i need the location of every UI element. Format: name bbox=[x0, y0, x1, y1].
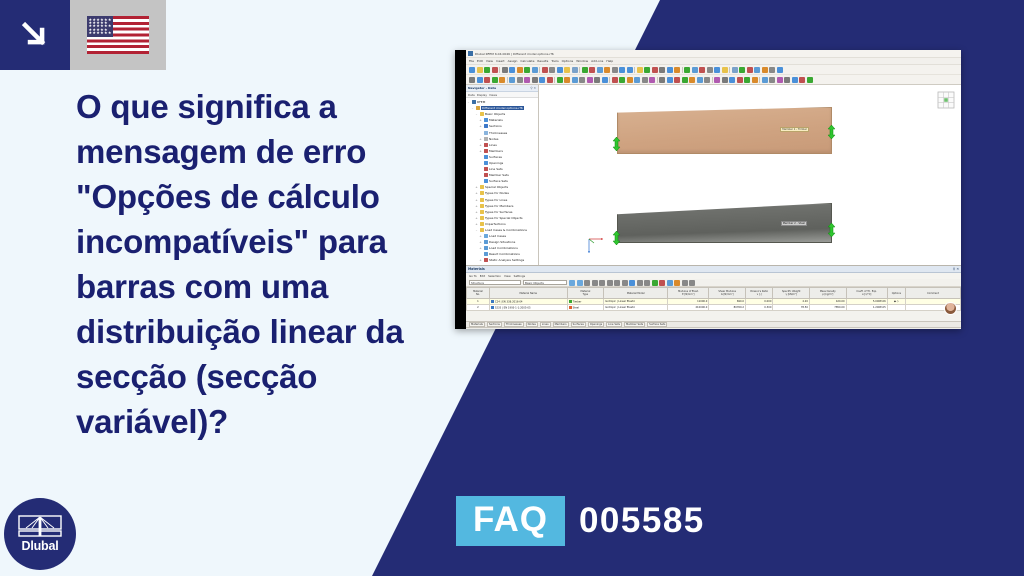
coordinate-axes-icon bbox=[587, 237, 607, 255]
tree-item-icon bbox=[484, 161, 488, 165]
materials-table-cell[interactable]: Isotropic | Linear Elastic bbox=[604, 305, 668, 311]
tree-item-label: RFEM bbox=[477, 100, 485, 104]
steel-tapered-beam[interactable]: Member 2 - Steel bbox=[617, 203, 832, 243]
toolbar-button[interactable] bbox=[659, 67, 665, 73]
tree-item-icon bbox=[484, 179, 488, 183]
toolbar-button[interactable] bbox=[502, 67, 508, 73]
tree-item-icon bbox=[484, 167, 488, 171]
toolbar-button[interactable] bbox=[594, 77, 600, 83]
tree-item-label: Line Sets bbox=[489, 167, 503, 171]
toolbar-button[interactable] bbox=[732, 67, 738, 73]
tree-item-icon bbox=[484, 143, 488, 147]
materials-column-header[interactable]: Poisson's Ratio ν [-] bbox=[745, 288, 772, 299]
toolbar-button[interactable] bbox=[714, 67, 720, 73]
toolbar-button[interactable] bbox=[684, 67, 690, 73]
tree-item-label: Special Objects bbox=[485, 185, 508, 189]
toolbar-button[interactable] bbox=[469, 77, 475, 83]
rfem-title-bar: Dlubal RFEM 6.04.0046 | Different model … bbox=[466, 50, 961, 58]
faq-slide: ★★★★★★ ★★★★★ ★★★★★★ ★★★★★ ★★★★★★ O que s… bbox=[0, 0, 1024, 576]
materials-column-header[interactable]: Mass Density ρ [kg/m³] bbox=[810, 288, 847, 299]
toolbar-separator bbox=[729, 67, 730, 73]
tree-item-label: Surfaces bbox=[489, 155, 502, 159]
toolbar-button[interactable] bbox=[492, 77, 498, 83]
toolbar-separator bbox=[682, 67, 683, 73]
sheet-tab-materials[interactable]: Materials bbox=[469, 322, 485, 327]
materials-grid[interactable]: Material No.Material NameMaterial TypeMa… bbox=[466, 287, 961, 311]
toolbar-button[interactable] bbox=[699, 67, 705, 73]
toolbar-button[interactable] bbox=[697, 77, 703, 83]
toolbar-button[interactable] bbox=[524, 77, 530, 83]
toolbar-button[interactable] bbox=[484, 77, 490, 83]
materials-grid-header-row: Material No.Material NameMaterial TypeMa… bbox=[467, 288, 961, 299]
rfem-toolbar-primary[interactable] bbox=[466, 65, 961, 75]
tree-item-icon bbox=[480, 112, 484, 116]
tree-item-icon bbox=[484, 149, 488, 153]
tree-expander-icon[interactable]: + bbox=[479, 124, 482, 128]
table-toolbar-button[interactable] bbox=[682, 280, 688, 286]
tree-expander-icon[interactable]: + bbox=[475, 185, 478, 189]
toolbar-button[interactable] bbox=[652, 67, 658, 73]
materials-table-cell[interactable]: 210000.0 bbox=[668, 305, 709, 311]
tree-item-icon bbox=[484, 131, 488, 135]
wood-beam-label: Member 1 - Timber bbox=[780, 127, 809, 132]
materials-panel-controls[interactable]: Structure Basic Objects bbox=[466, 279, 961, 287]
tree-expander-icon[interactable]: + bbox=[479, 234, 482, 238]
menu-item-tools[interactable]: Tools bbox=[551, 59, 558, 63]
toolbar-button[interactable] bbox=[729, 77, 735, 83]
table-toolbar-button[interactable] bbox=[592, 280, 598, 286]
tree-item-label: Member Sets bbox=[489, 173, 509, 177]
nodal-support-icon[interactable] bbox=[826, 125, 837, 139]
toolbar-button[interactable] bbox=[572, 77, 578, 83]
tree-item-icon bbox=[484, 246, 488, 250]
nodal-support-icon[interactable] bbox=[611, 137, 622, 151]
table-toolbar-button[interactable] bbox=[644, 280, 650, 286]
tree-expander-icon[interactable]: + bbox=[479, 240, 482, 244]
table-toolbar-button[interactable] bbox=[667, 280, 673, 286]
table-toolbar-button[interactable] bbox=[637, 280, 643, 286]
tree-expander-icon[interactable]: + bbox=[475, 222, 478, 226]
navigator-tree[interactable]: –RFEM–Different model options.rf6–Basic … bbox=[466, 98, 538, 265]
toolbar-button[interactable] bbox=[524, 67, 530, 73]
toolbar-button[interactable] bbox=[637, 67, 643, 73]
toolbar-button[interactable] bbox=[499, 77, 505, 83]
faq-number: 005585 bbox=[579, 502, 705, 540]
sheet-tab-members[interactable]: Members bbox=[553, 322, 569, 327]
toolbar-button[interactable] bbox=[564, 67, 570, 73]
menu-item-view[interactable]: View bbox=[486, 59, 493, 63]
view-cube-icon[interactable] bbox=[937, 91, 955, 109]
toolbar-button[interactable] bbox=[682, 77, 688, 83]
materials-table-cell[interactable]: 78.50 bbox=[773, 305, 810, 311]
toolbar-button[interactable] bbox=[747, 67, 753, 73]
table-menu-selection[interactable]: Selection bbox=[488, 274, 501, 278]
toolbar-button[interactable] bbox=[602, 77, 608, 83]
menu-item-options[interactable]: Options bbox=[562, 59, 574, 63]
tree-item-label: Types for Nodes bbox=[485, 191, 509, 195]
toolbar-button[interactable] bbox=[564, 77, 570, 83]
faq-badge: FAQ bbox=[456, 496, 565, 546]
materials-column-header[interactable]: Modulus of Elast. E [N/mm²] bbox=[668, 288, 709, 299]
tree-item-label: Result Combinations bbox=[489, 252, 520, 256]
toolbar-button[interactable] bbox=[492, 67, 498, 73]
dlubal-logo: Dlubal bbox=[4, 498, 76, 570]
tree-item-label: Types for Surfaces bbox=[485, 210, 512, 214]
toolbar-button[interactable] bbox=[477, 77, 483, 83]
toolbar-button[interactable] bbox=[557, 67, 563, 73]
tree-item-label: Types for Special Objects bbox=[485, 216, 523, 220]
tree-expander-icon[interactable]: + bbox=[479, 143, 482, 147]
toolbar-button[interactable] bbox=[674, 77, 680, 83]
menu-item-window[interactable]: Window bbox=[576, 59, 588, 63]
tree-item-label: Openings bbox=[489, 161, 503, 165]
dlubal-truss-icon bbox=[18, 515, 62, 537]
user-avatar[interactable] bbox=[944, 302, 957, 315]
tree-expander-icon[interactable]: – bbox=[467, 100, 470, 104]
toolbar-button[interactable] bbox=[707, 67, 713, 73]
toolbar-button[interactable] bbox=[547, 77, 553, 83]
tree-expander-icon[interactable]: + bbox=[475, 216, 478, 220]
toolbar-button[interactable] bbox=[689, 77, 695, 83]
toolbar-button[interactable] bbox=[752, 77, 758, 83]
table-toolbar-button[interactable] bbox=[652, 280, 658, 286]
toolbar-separator bbox=[539, 67, 540, 73]
toolbar-separator bbox=[554, 77, 555, 83]
toolbar-button[interactable] bbox=[627, 77, 633, 83]
tree-item-icon bbox=[480, 198, 484, 202]
menu-item-results[interactable]: Results bbox=[537, 59, 548, 63]
toolbar-button[interactable] bbox=[557, 77, 563, 83]
navigator-pin-close-icons[interactable]: ⚲ ✕ bbox=[530, 86, 536, 90]
tree-item-icon bbox=[484, 155, 488, 159]
toolbar-separator bbox=[507, 77, 508, 83]
table-toolbar-button[interactable] bbox=[622, 280, 628, 286]
materials-table-row[interactable]: 2S235 | EN 1993-1-1:2005-05SteelIsotropi… bbox=[467, 305, 961, 311]
toolbar-button[interactable] bbox=[612, 77, 618, 83]
materials-column-header[interactable]: Material Model bbox=[604, 288, 668, 299]
tree-item-icon bbox=[484, 173, 488, 177]
toolbar-button[interactable] bbox=[807, 77, 813, 83]
table-toolbar-button[interactable] bbox=[674, 280, 680, 286]
materials-table-cell[interactable]: 0.300 bbox=[745, 305, 772, 311]
toolbar-button[interactable] bbox=[517, 77, 523, 83]
toolbar-button[interactable] bbox=[769, 67, 775, 73]
tree-item-label: Members bbox=[489, 149, 503, 153]
toolbar-button[interactable] bbox=[792, 77, 798, 83]
toolbar-separator bbox=[579, 67, 580, 73]
materials-table-cell[interactable]: 80769.2 bbox=[709, 305, 746, 311]
materials-panel-title: Materials bbox=[468, 267, 485, 271]
materials-column-header[interactable]: Options bbox=[887, 288, 905, 299]
sheet-tab-surface-sets[interactable]: Surface Sets bbox=[647, 322, 667, 327]
us-flag-icon: ★★★★★★ ★★★★★ ★★★★★★ ★★★★★ ★★★★★★ bbox=[70, 0, 166, 70]
tree-item-label: Sections bbox=[489, 124, 502, 128]
tree-item-label: Thicknesses bbox=[489, 131, 507, 135]
toolbar-button[interactable] bbox=[762, 77, 768, 83]
rfem-status-bar: Global XYZ CS: Global XYZ Plane: XZ bbox=[466, 327, 961, 329]
rfem-screenshot: Dlubal RFEM 6.04.0046 | Different model … bbox=[455, 50, 961, 329]
toolbar-button[interactable] bbox=[704, 77, 710, 83]
sheet-tab-lines[interactable]: Lines bbox=[540, 322, 551, 327]
sheet-tab-openings[interactable]: Openings bbox=[588, 322, 604, 327]
toolbar-separator bbox=[499, 67, 500, 73]
materials-column-header[interactable]: Specific Weight γ [kN/m³] bbox=[773, 288, 810, 299]
tree-item-label: Basic Objects bbox=[485, 112, 505, 116]
toolbar-button[interactable] bbox=[532, 67, 538, 73]
materials-column-header[interactable]: Shear Modulus G [N/mm²] bbox=[709, 288, 746, 299]
toolbar-button[interactable] bbox=[644, 67, 650, 73]
toolbar-button[interactable] bbox=[539, 77, 545, 83]
cell-color-swatch bbox=[569, 306, 572, 309]
materials-column-header[interactable]: Material No. bbox=[467, 288, 490, 299]
tree-item-label: Design Situations bbox=[489, 240, 515, 244]
faq-footer: FAQ 005585 bbox=[456, 496, 705, 546]
toolbar-button[interactable] bbox=[784, 77, 790, 83]
toolbar-button[interactable] bbox=[777, 67, 783, 73]
materials-table-cell[interactable] bbox=[887, 305, 905, 311]
tree-item-label: Types for Members bbox=[485, 204, 513, 208]
materials-toolbar-buttons[interactable] bbox=[569, 280, 695, 286]
tree-expander-icon[interactable]: + bbox=[475, 210, 478, 214]
materials-column-header[interactable]: Coeff. of Th. Exp. α [1/°C] bbox=[846, 288, 887, 299]
materials-column-header[interactable]: Comment bbox=[906, 288, 961, 299]
navigator-title: Navigator - Data bbox=[468, 86, 496, 90]
tree-expander-icon[interactable]: – bbox=[471, 106, 474, 110]
cell-color-swatch bbox=[569, 300, 572, 303]
toolbar-button[interactable] bbox=[722, 77, 728, 83]
toolbar-button[interactable] bbox=[597, 67, 603, 73]
tree-item-label: Static Analysis Settings bbox=[489, 258, 524, 262]
tree-item-label: Materials bbox=[489, 118, 503, 122]
nodal-support-icon[interactable] bbox=[826, 223, 837, 237]
menu-item-file[interactable]: File bbox=[469, 59, 474, 63]
materials-panel-header: Materials ⚲ ✕ bbox=[466, 266, 961, 273]
toolbar-button[interactable] bbox=[769, 77, 775, 83]
materials-table-cell[interactable]: Steel bbox=[567, 305, 604, 311]
tree-item-icon bbox=[484, 137, 488, 141]
sheet-tab-surfaces[interactable]: Surfaces bbox=[571, 322, 586, 327]
materials-table-cell[interactable]: 2 bbox=[467, 305, 490, 311]
table-toolbar-button[interactable] bbox=[607, 280, 613, 286]
materials-grid-body[interactable]: 1C24 | EN 338:2016-04TimberIsotropic | L… bbox=[467, 299, 961, 311]
tree-expander-icon[interactable]: + bbox=[479, 137, 482, 141]
toolbar-button[interactable] bbox=[549, 67, 555, 73]
tree-item[interactable]: +Load Wizards bbox=[467, 264, 538, 265]
tree-expander-icon[interactable]: + bbox=[479, 149, 482, 153]
us-flag-graphic: ★★★★★★ ★★★★★ ★★★★★★ ★★★★★ ★★★★★★ bbox=[87, 16, 149, 54]
toolbar-button[interactable] bbox=[579, 77, 585, 83]
tree-item-icon bbox=[480, 191, 484, 195]
menu-item-assign[interactable]: Assign bbox=[508, 59, 518, 63]
navigator-tab-data[interactable]: Data bbox=[468, 93, 475, 97]
table-toolbar-button[interactable] bbox=[614, 280, 620, 286]
navigator-tab-views[interactable]: Views bbox=[489, 93, 497, 97]
toolbar-button[interactable] bbox=[674, 67, 680, 73]
tree-item-icon bbox=[480, 222, 484, 226]
cell-color-swatch bbox=[491, 306, 494, 309]
tree-item-icon bbox=[480, 204, 484, 208]
tree-item-icon bbox=[480, 228, 484, 232]
tree-expander-icon[interactable]: + bbox=[475, 191, 478, 195]
toolbar-button[interactable] bbox=[517, 67, 523, 73]
tree-expander-icon[interactable]: + bbox=[479, 258, 482, 262]
toolbar-button[interactable] bbox=[484, 67, 490, 73]
tree-item-label: Imperfections bbox=[485, 222, 506, 226]
materials-column-header[interactable]: Material Type bbox=[567, 288, 604, 299]
objects-filter-value: Basic Objects bbox=[525, 281, 544, 285]
table-toolbar-button[interactable] bbox=[584, 280, 590, 286]
toolbar-button[interactable] bbox=[477, 67, 483, 73]
toolbar-button[interactable] bbox=[542, 67, 548, 73]
navigator-header: Navigator - Data ⚲ ✕ bbox=[466, 85, 538, 92]
table-menu-view[interactable]: View bbox=[504, 274, 511, 278]
toolbar-button[interactable] bbox=[612, 67, 618, 73]
table-toolbar-button[interactable] bbox=[569, 280, 575, 286]
table-toolbar-button[interactable] bbox=[659, 280, 665, 286]
nodal-support-icon[interactable] bbox=[611, 231, 622, 245]
toolbar-button[interactable] bbox=[799, 77, 805, 83]
tree-item-icon bbox=[484, 258, 488, 262]
tree-item-label: Load Cases & Combinations bbox=[485, 228, 527, 232]
toolbar-button[interactable] bbox=[649, 77, 655, 83]
toolbar-button[interactable] bbox=[572, 67, 578, 73]
tree-expander-icon[interactable]: + bbox=[475, 198, 478, 202]
rfem-3d-viewport[interactable]: Member 1 - Timber Member 2 - Steel bbox=[539, 85, 961, 265]
toolbar-separator bbox=[657, 77, 658, 83]
toolbar-button[interactable] bbox=[754, 67, 760, 73]
toolbar-button[interactable] bbox=[659, 77, 665, 83]
tree-expander-icon[interactable]: + bbox=[475, 204, 478, 208]
toolbar-button[interactable] bbox=[762, 67, 768, 73]
tree-item-label: Surface Sets bbox=[489, 179, 508, 183]
tree-item-label: Types for Lines bbox=[485, 198, 507, 202]
flag-stars: ★★★★★★ ★★★★★ ★★★★★★ ★★★★★ ★★★★★★ bbox=[87, 16, 113, 37]
tree-item-label: Load Cases bbox=[489, 234, 506, 238]
toolbar-button[interactable] bbox=[619, 67, 625, 73]
sheet-tab-member-sets[interactable]: Member Sets bbox=[624, 322, 645, 327]
toolbar-button[interactable] bbox=[667, 67, 673, 73]
tree-item-label: Lines bbox=[489, 143, 497, 147]
rfem-window: Dlubal RFEM 6.04.0046 | Different model … bbox=[466, 50, 961, 329]
toolbar-separator bbox=[609, 77, 610, 83]
tree-item-icon bbox=[480, 216, 484, 220]
toolbar-button[interactable] bbox=[509, 67, 515, 73]
materials-table-cell[interactable]: 7850.00 bbox=[810, 305, 847, 311]
toolbar-button[interactable] bbox=[667, 77, 673, 83]
table-toolbar-button[interactable] bbox=[577, 280, 583, 286]
rfem-toolbar-secondary[interactable] bbox=[466, 75, 961, 85]
tree-item-icon bbox=[480, 210, 484, 214]
menu-item-insert[interactable]: Insert bbox=[496, 59, 505, 63]
toolbar-button[interactable] bbox=[589, 67, 595, 73]
cell-color-swatch bbox=[491, 300, 494, 303]
rfem-main-area: Navigator - Data ⚲ ✕ DataDisplayViews –R… bbox=[466, 85, 961, 265]
menu-item-calculate[interactable]: Calculate bbox=[520, 59, 534, 63]
top-left-bar: ★★★★★★ ★★★★★ ★★★★★★ ★★★★★ ★★★★★★ bbox=[0, 0, 166, 70]
materials-table-cell[interactable]: 1.200E-05 bbox=[846, 305, 887, 311]
tree-item-label: Load Combinations bbox=[489, 246, 518, 250]
menu-item-help[interactable]: Help bbox=[606, 59, 613, 63]
toolbar-separator bbox=[634, 67, 635, 73]
tree-item-icon bbox=[484, 234, 488, 238]
tree-item-icon bbox=[480, 185, 484, 189]
navigator-tab-display[interactable]: Display bbox=[477, 93, 487, 97]
wood-tapered-beam[interactable]: Member 1 - Timber bbox=[617, 107, 832, 154]
table-menu-go-to[interactable]: Go To bbox=[469, 274, 477, 278]
toolbar-button[interactable] bbox=[777, 77, 783, 83]
table-toolbar-button[interactable] bbox=[599, 280, 605, 286]
rfem-navigator-panel[interactable]: Navigator - Data ⚲ ✕ DataDisplayViews –R… bbox=[466, 85, 539, 265]
tree-item-icon bbox=[484, 252, 488, 256]
tree-item-icon bbox=[484, 240, 488, 244]
toolbar-separator bbox=[712, 77, 713, 83]
toolbar-button[interactable] bbox=[619, 77, 625, 83]
arrow-down-right-glyph bbox=[18, 18, 52, 52]
toolbar-button[interactable] bbox=[737, 77, 743, 83]
toolbar-button[interactable] bbox=[627, 67, 633, 73]
tree-item-icon bbox=[484, 118, 488, 122]
toolbar-button[interactable] bbox=[469, 67, 475, 73]
sheet-tab-thicknesses[interactable]: Thicknesses bbox=[504, 322, 524, 327]
page-title: O que significa a mensagem de erro "Opçõ… bbox=[76, 84, 436, 444]
sheet-tab-line-sets[interactable]: Line Sets bbox=[606, 322, 622, 327]
toolbar-button[interactable] bbox=[722, 67, 728, 73]
toolbar-button[interactable] bbox=[739, 67, 745, 73]
table-menu-settings[interactable]: Settings bbox=[514, 274, 525, 278]
materials-table-panel[interactable]: Materials ⚲ ✕ Go ToEditSelectionViewSett… bbox=[466, 265, 961, 321]
table-toolbar-button[interactable] bbox=[629, 280, 635, 286]
menu-item-edit[interactable]: Edit bbox=[477, 59, 483, 63]
tree-item-icon bbox=[476, 106, 480, 110]
structure-filter-value: Structure bbox=[471, 281, 484, 285]
toolbar-button[interactable] bbox=[744, 77, 750, 83]
tree-item-label: Nodes bbox=[489, 137, 498, 141]
toolbar-button[interactable] bbox=[509, 77, 515, 83]
rfem-app-icon bbox=[468, 51, 473, 56]
materials-column-header[interactable]: Material Name bbox=[489, 288, 567, 299]
tree-expander-icon[interactable]: + bbox=[479, 246, 482, 250]
toolbar-button[interactable] bbox=[532, 77, 538, 83]
rfem-menu-bar[interactable]: FileEditViewInsertAssignCalculateResults… bbox=[466, 58, 961, 65]
tree-expander-icon[interactable]: + bbox=[479, 118, 482, 122]
objects-filter-combo[interactable]: Basic Objects bbox=[523, 280, 567, 286]
table-toolbar-button[interactable] bbox=[689, 280, 695, 286]
table-menu-edit[interactable]: Edit bbox=[480, 274, 485, 278]
tree-item-icon bbox=[472, 100, 476, 104]
toolbar-button[interactable] bbox=[714, 77, 720, 83]
toolbar-button[interactable] bbox=[692, 67, 698, 73]
toolbar-separator bbox=[759, 77, 760, 83]
tree-expander-icon[interactable]: – bbox=[475, 228, 478, 232]
toolbar-button[interactable] bbox=[582, 67, 588, 73]
toolbar-button[interactable] bbox=[604, 67, 610, 73]
materials-panel-pin-close-icons[interactable]: ⚲ ✕ bbox=[953, 267, 959, 271]
rfem-title-text: Dlubal RFEM 6.04.0046 | Different model … bbox=[475, 52, 554, 56]
toolbar-button[interactable] bbox=[587, 77, 593, 83]
menu-item-add-ons[interactable]: Add-ons bbox=[591, 59, 603, 63]
toolbar-button[interactable] bbox=[634, 77, 640, 83]
tree-expander-icon[interactable]: – bbox=[475, 112, 478, 116]
sheet-tab-sections[interactable]: Sections bbox=[487, 322, 502, 327]
sheet-tab-nodes[interactable]: Nodes bbox=[526, 322, 538, 327]
structure-filter-combo[interactable]: Structure bbox=[469, 280, 521, 286]
tree-item-label: Different model options.rf6 bbox=[481, 106, 524, 110]
toolbar-button[interactable] bbox=[642, 77, 648, 83]
steel-beam-label: Member 2 - Steel bbox=[781, 221, 807, 226]
dlubal-logo-text: Dlubal bbox=[22, 539, 59, 553]
materials-table-cell[interactable]: S235 | EN 1993-1-1:2005-05 bbox=[489, 305, 567, 311]
tree-item-icon bbox=[484, 124, 488, 128]
